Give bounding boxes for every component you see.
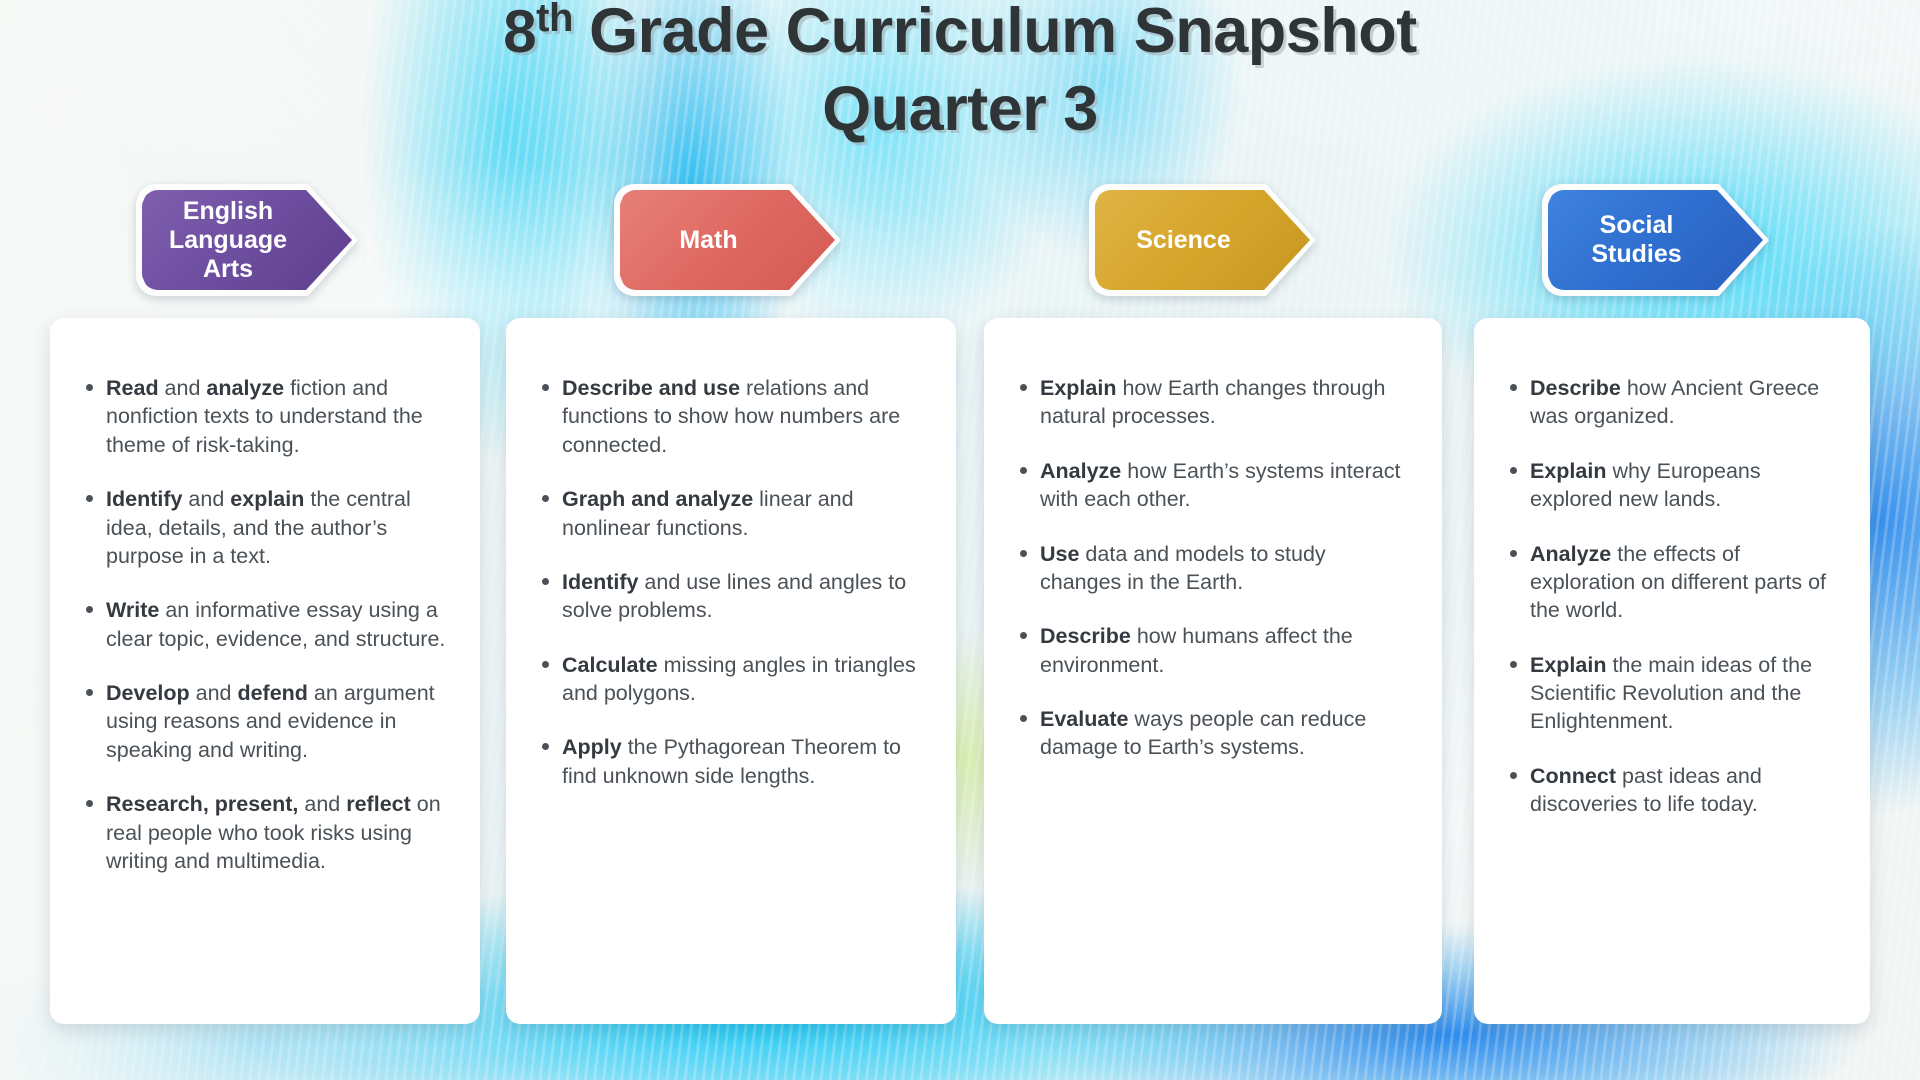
title-grade-number: 8: [503, 0, 536, 65]
title-subtitle: Quarter 3: [822, 74, 1098, 144]
subject-banner-social_studies[interactable]: SocialStudies: [1548, 190, 1763, 290]
banner-label: Math: [679, 226, 737, 255]
objective-item: Calculate missing angles in triangles an…: [536, 651, 922, 708]
subject-card-ela: Read and analyze fiction and nonfiction …: [50, 318, 480, 1024]
objective-verb-secondary: reflect: [346, 792, 411, 816]
objective-verb: Calculate: [562, 653, 658, 677]
objective-item: Explain why Europeans explored new lands…: [1504, 457, 1836, 514]
objective-verb: Describe and use: [562, 376, 740, 400]
objective-verb: Identify: [562, 570, 638, 594]
banner-shape: SocialStudies: [1548, 190, 1763, 290]
objective-item: Explain the main ideas of the Scientific…: [1504, 651, 1836, 736]
objective-item: Identify and use lines and angles to sol…: [536, 568, 922, 625]
subject-card-social_studies: Describe how Ancient Greece was organize…: [1474, 318, 1870, 1024]
objective-verb: Describe: [1040, 624, 1131, 648]
objective-item: Evaluate ways people can reduce damage t…: [1014, 705, 1408, 762]
objective-verb-secondary: analyze: [206, 376, 284, 400]
subject-card-science: Explain how Earth changes through natura…: [984, 318, 1442, 1024]
objective-verb: Use: [1040, 542, 1079, 566]
objective-verb: Write: [106, 598, 159, 622]
objective-item: Explain how Earth changes through natura…: [1014, 374, 1408, 431]
objective-verb: Apply: [562, 735, 622, 759]
objective-verb: Read: [106, 376, 159, 400]
objective-item: Use data and models to study changes in …: [1014, 540, 1408, 597]
objective-item: Read and analyze fiction and nonfiction …: [80, 374, 446, 459]
objective-verb-secondary: defend: [237, 681, 307, 705]
objective-item: Apply the Pythagorean Theorem to find un…: [536, 733, 922, 790]
subject-banner-math[interactable]: Math: [620, 190, 835, 290]
objective-list: Describe how Ancient Greece was organize…: [1504, 374, 1836, 819]
objective-item: Graph and analyze linear and nonlinear f…: [536, 485, 922, 542]
objective-verb: Analyze: [1040, 459, 1121, 483]
objective-item: Connect past ideas and discoveries to li…: [1504, 762, 1836, 819]
objective-item: Analyze how Earth’s systems interact wit…: [1014, 457, 1408, 514]
objective-list: Describe and use relations and functions…: [536, 374, 922, 790]
subject-card-math: Describe and use relations and functions…: [506, 318, 956, 1024]
subject-banner-science[interactable]: Science: [1095, 190, 1310, 290]
objective-item: Describe how humans affect the environme…: [1014, 622, 1408, 679]
page-title: 8th Grade Curriculum Snapshot Quarter 3: [0, 0, 1920, 148]
banner-label: Science: [1136, 226, 1231, 255]
objective-verb-secondary: explain: [230, 487, 304, 511]
objective-item: Research, present, and reflect on real p…: [80, 790, 446, 875]
objective-item: Identify and explain the central idea, d…: [80, 485, 446, 570]
objective-verb: Graph and analyze: [562, 487, 753, 511]
objective-verb: Analyze: [1530, 542, 1611, 566]
objective-verb: Research, present,: [106, 792, 298, 816]
objective-item: Develop and defend an argument using rea…: [80, 679, 446, 764]
objective-verb: Describe: [1530, 376, 1621, 400]
objective-verb: Connect: [1530, 764, 1616, 788]
objective-list: Read and analyze fiction and nonfiction …: [80, 374, 446, 875]
objective-item: Write an informative essay using a clear…: [80, 596, 446, 653]
subject-banner-row: EnglishLanguageArtsMathScienceSocialStud…: [0, 190, 1920, 300]
objective-verb: Explain: [1040, 376, 1116, 400]
objective-verb: Evaluate: [1040, 707, 1128, 731]
title-main-text: Grade Curriculum Snapshot: [589, 0, 1417, 66]
objective-list: Explain how Earth changes through natura…: [1014, 374, 1408, 762]
banner-label: EnglishLanguageArts: [169, 197, 287, 284]
objective-item: Describe and use relations and functions…: [536, 374, 922, 459]
objective-verb: Identify: [106, 487, 182, 511]
objective-item: Analyze the effects of exploration on di…: [1504, 540, 1836, 625]
banner-shape: Math: [620, 190, 835, 290]
subject-banner-ela[interactable]: EnglishLanguageArts: [142, 190, 352, 290]
banner-label: SocialStudies: [1591, 211, 1681, 269]
objective-verb: Develop: [106, 681, 190, 705]
banner-shape: Science: [1095, 190, 1310, 290]
objective-item: Describe how Ancient Greece was organize…: [1504, 374, 1836, 431]
title-ordinal-suffix: th: [536, 0, 573, 40]
objective-verb: Explain: [1530, 653, 1606, 677]
objective-verb: Explain: [1530, 459, 1606, 483]
